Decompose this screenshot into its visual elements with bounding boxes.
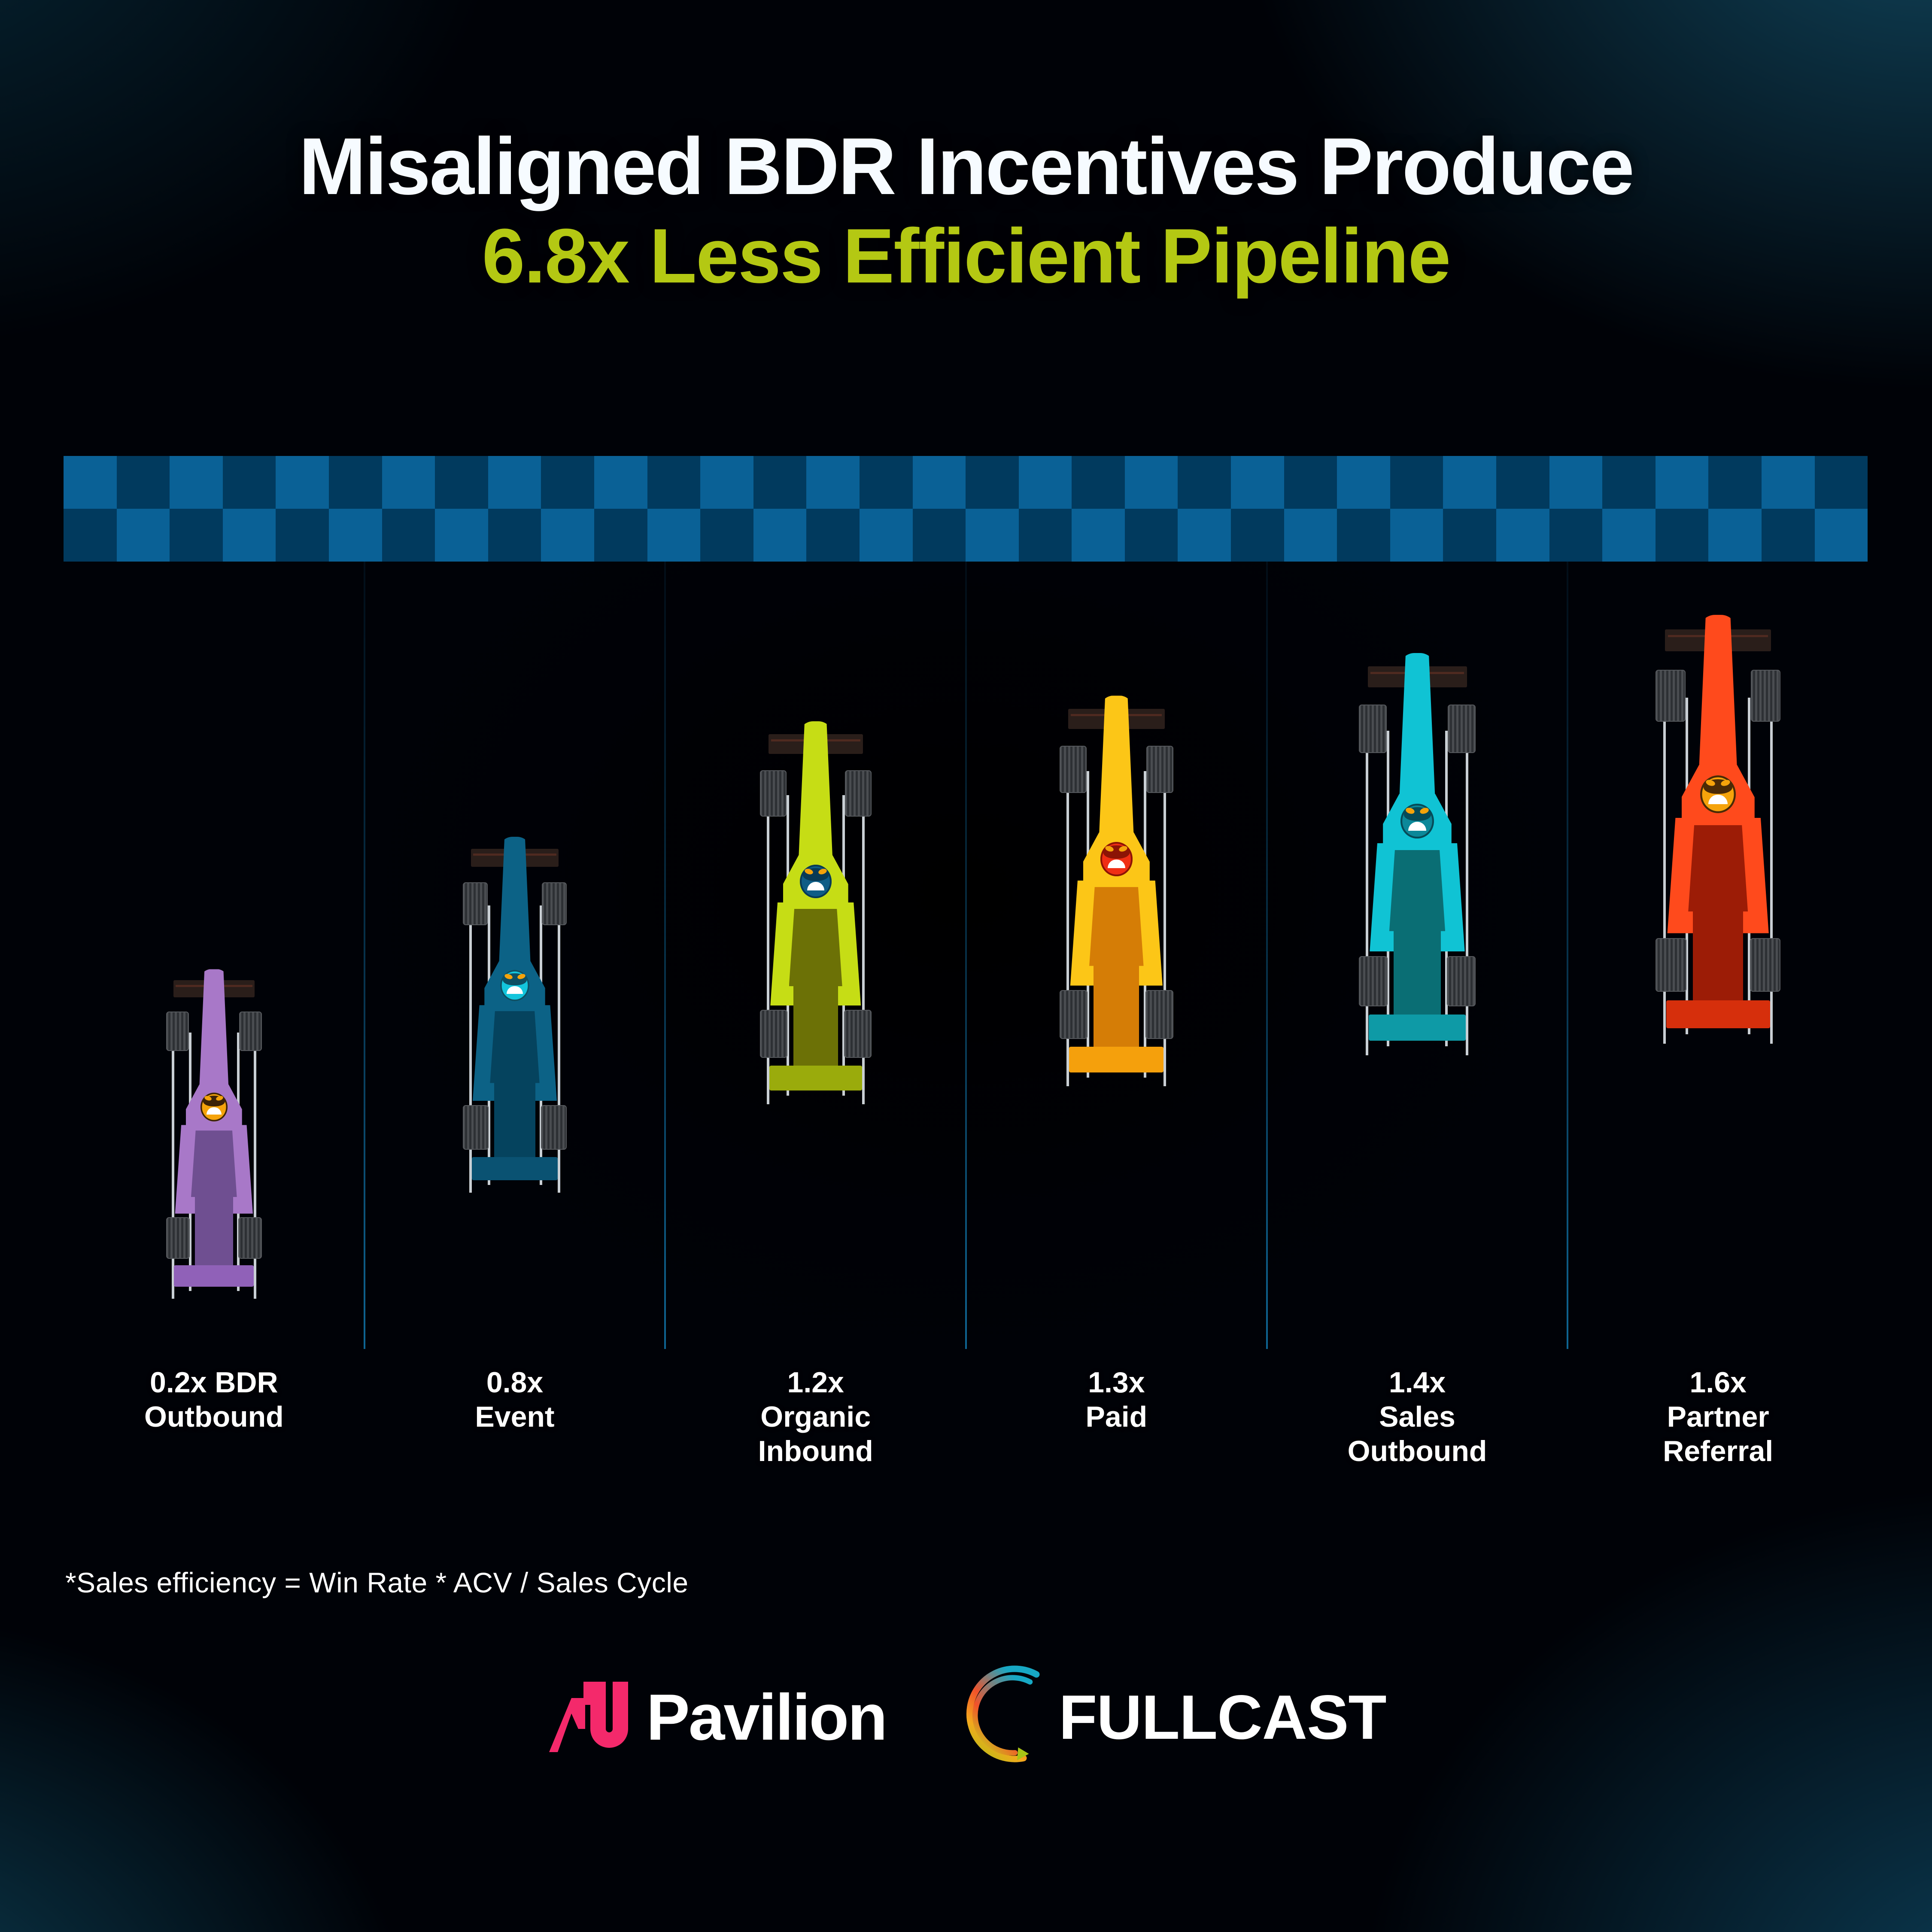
checker-cell (1549, 456, 1603, 509)
lane-label-2: 0.8x Event (365, 1365, 665, 1469)
checker-cell (860, 509, 913, 562)
checker-cell (594, 509, 647, 562)
rear-wing (1666, 1000, 1770, 1028)
checker-cell (1602, 509, 1656, 562)
wheel-rear-left (166, 1217, 190, 1258)
gearbox (1394, 929, 1440, 1015)
gearbox (793, 984, 838, 1066)
engine-cover (1089, 887, 1143, 966)
checker-cell (1337, 509, 1390, 562)
wheel-front-right (845, 770, 872, 817)
checker-cell (329, 509, 382, 562)
checker-cell (1231, 509, 1284, 562)
engine-cover (191, 1130, 237, 1197)
checker-cell (1284, 509, 1337, 562)
wheel-front-right (1448, 705, 1476, 753)
pavilion-mark-icon (546, 1679, 632, 1756)
lane-divider (1567, 562, 1568, 1349)
wheel-front-right (1751, 670, 1780, 722)
wheel-rear-left (1060, 990, 1088, 1039)
lane-label-1: 0.2x BDR Outbound (64, 1365, 365, 1469)
engine-cover (1389, 850, 1445, 931)
checker-cell (329, 456, 382, 509)
lane-label-text: 1.2x Organic Inbound (671, 1365, 960, 1469)
checker-cell (276, 509, 329, 562)
race-car-3 (738, 714, 893, 1143)
checker-cell (541, 456, 594, 509)
checker-cell (594, 456, 647, 509)
checker-row (64, 456, 1868, 509)
checker-cell (488, 456, 541, 509)
checker-cell (1019, 509, 1072, 562)
checker-cell (223, 456, 276, 509)
lane-label-text: 0.8x Event (371, 1365, 659, 1434)
sidepod-left (1065, 881, 1095, 986)
race-car-5 (1336, 645, 1498, 1096)
checker-cell (1762, 456, 1815, 509)
checker-cell (647, 509, 701, 562)
checker-cell (1549, 509, 1603, 562)
checker-cell (1656, 456, 1709, 509)
checker-cell (1708, 456, 1762, 509)
checker-cell (1390, 456, 1443, 509)
wheel-rear-right (844, 1010, 872, 1058)
checker-cell (1125, 509, 1178, 562)
lane-labels: 0.2x BDR Outbound0.8x Event1.2x Organic … (64, 1365, 1868, 1469)
checker-cell (860, 456, 913, 509)
page-title: Misaligned BDR Incentives Produce (0, 120, 1932, 212)
checker-cell (170, 509, 223, 562)
checker-cell (276, 456, 329, 509)
checker-cell (117, 509, 170, 562)
checker-cell (382, 456, 435, 509)
race-car-1 (148, 963, 281, 1332)
wheel-front-left (166, 1012, 189, 1051)
checker-cell (64, 456, 117, 509)
checker-cell (1496, 456, 1549, 509)
engine-cover (789, 909, 842, 986)
race-track (64, 456, 1868, 1349)
wheel-front-right (1146, 746, 1173, 793)
wheel-front-left (760, 770, 787, 817)
sidepod-left (765, 902, 795, 1005)
lane-label-6: 1.6x Partner Referral (1567, 1365, 1868, 1469)
checker-cell (700, 509, 753, 562)
page-subtitle: 6.8x Less Efficient Pipeline (0, 212, 1932, 300)
wheel-front-right (542, 882, 567, 925)
checker-cell (170, 456, 223, 509)
lane-label-4: 1.3x Paid (966, 1365, 1267, 1469)
wheel-front-left (463, 882, 488, 925)
checker-cell (1443, 456, 1496, 509)
pavilion-wordmark: Pavilion (646, 1680, 886, 1755)
checker-cell (223, 509, 276, 562)
wheel-rear-left (463, 1105, 489, 1150)
wheel-front-left (1060, 746, 1087, 793)
wheel-front-right (239, 1012, 262, 1051)
checker-cell (1125, 456, 1178, 509)
fullcast-mark-icon (959, 1664, 1066, 1771)
engine-cover (490, 1011, 539, 1083)
rear-wing (1369, 1015, 1466, 1041)
wheel-front-left (1656, 670, 1685, 722)
lane-divider (965, 562, 967, 1349)
checker-cell (1815, 456, 1868, 509)
checker-cell (435, 456, 488, 509)
lane-label-text: 1.4x Sales Outbound (1273, 1365, 1562, 1469)
checker-cell (1019, 456, 1072, 509)
fullcast-logo[interactable]: FULLCAST (959, 1664, 1386, 1771)
wheel-front-left (1359, 705, 1387, 753)
checker-cell (966, 509, 1019, 562)
checker-cell (1231, 456, 1284, 509)
wheel-rear-right (1447, 956, 1476, 1007)
checker-cell (700, 456, 753, 509)
wheel-rear-right (1750, 938, 1781, 992)
rear-wing (174, 1265, 254, 1287)
wheel-rear-right (1145, 990, 1173, 1039)
checker-cell (541, 509, 594, 562)
sidepod-left (468, 1005, 495, 1101)
gearbox (1094, 964, 1139, 1047)
wheel-rear-left (1656, 938, 1686, 992)
checker-cell (753, 456, 807, 509)
race-car-2 (443, 829, 587, 1229)
checker-cell (1072, 456, 1125, 509)
checker-row (64, 509, 1868, 562)
lane-label-5: 1.4x Sales Outbound (1267, 1365, 1568, 1469)
rear-wing (769, 1066, 862, 1091)
checker-cell (1815, 509, 1868, 562)
lane-label-text: 1.3x Paid (972, 1365, 1261, 1434)
race-car-4 (1038, 688, 1195, 1126)
checker-cell (966, 456, 1019, 509)
wheel-rear-left (760, 1010, 787, 1058)
checker-cell (1708, 509, 1762, 562)
lane-label-text: 0.2x BDR Outbound (70, 1365, 358, 1434)
checker-cell (1284, 456, 1337, 509)
race-car-6 (1631, 606, 1804, 1087)
lane-label-3: 1.2x Organic Inbound (665, 1365, 966, 1469)
checker-cell (806, 456, 860, 509)
checker-cell (1656, 509, 1709, 562)
gearbox (494, 1081, 536, 1157)
engine-cover (1688, 825, 1748, 912)
checker-cell (647, 456, 701, 509)
sidepod-left (1364, 843, 1396, 951)
checker-cell (488, 509, 541, 562)
wheel-rear-left (1359, 956, 1388, 1007)
footnote: *Sales efficiency = Win Rate * ACV / Sal… (65, 1566, 689, 1599)
checker-cell (1178, 509, 1231, 562)
checker-cell (913, 509, 966, 562)
logo-bar: Pavilion FULLCAST (0, 1649, 1932, 1786)
checkered-flag-icon (64, 456, 1868, 562)
checker-cell (382, 509, 435, 562)
checker-cell (117, 456, 170, 509)
lane-divider (1266, 562, 1268, 1349)
rear-wing (472, 1157, 558, 1180)
checker-cell (1337, 456, 1390, 509)
checker-cell (913, 456, 966, 509)
gearbox (1693, 909, 1743, 1001)
checker-cell (1390, 509, 1443, 562)
checker-cell (1178, 456, 1231, 509)
checker-cell (1443, 509, 1496, 562)
pavilion-logo[interactable]: Pavilion (546, 1679, 886, 1756)
checker-cell (1072, 509, 1125, 562)
sidepod-left (1662, 818, 1695, 933)
checker-cell (806, 509, 860, 562)
lane-label-text: 1.6x Partner Referral (1574, 1365, 1862, 1469)
checker-cell (1496, 509, 1549, 562)
title-block: Misaligned BDR Incentives Produce 6.8x L… (0, 120, 1932, 301)
checker-cell (1602, 456, 1656, 509)
checker-cell (753, 509, 807, 562)
rear-wing (1069, 1047, 1163, 1072)
checker-cell (1762, 509, 1815, 562)
wheel-rear-right (541, 1105, 567, 1150)
checker-cell (435, 509, 488, 562)
gearbox (195, 1195, 233, 1265)
lane-divider (364, 562, 365, 1349)
fullcast-wordmark: FULLCAST (1059, 1681, 1386, 1753)
lane-divider (664, 562, 666, 1349)
checker-cell (64, 509, 117, 562)
wheel-rear-right (238, 1217, 262, 1258)
